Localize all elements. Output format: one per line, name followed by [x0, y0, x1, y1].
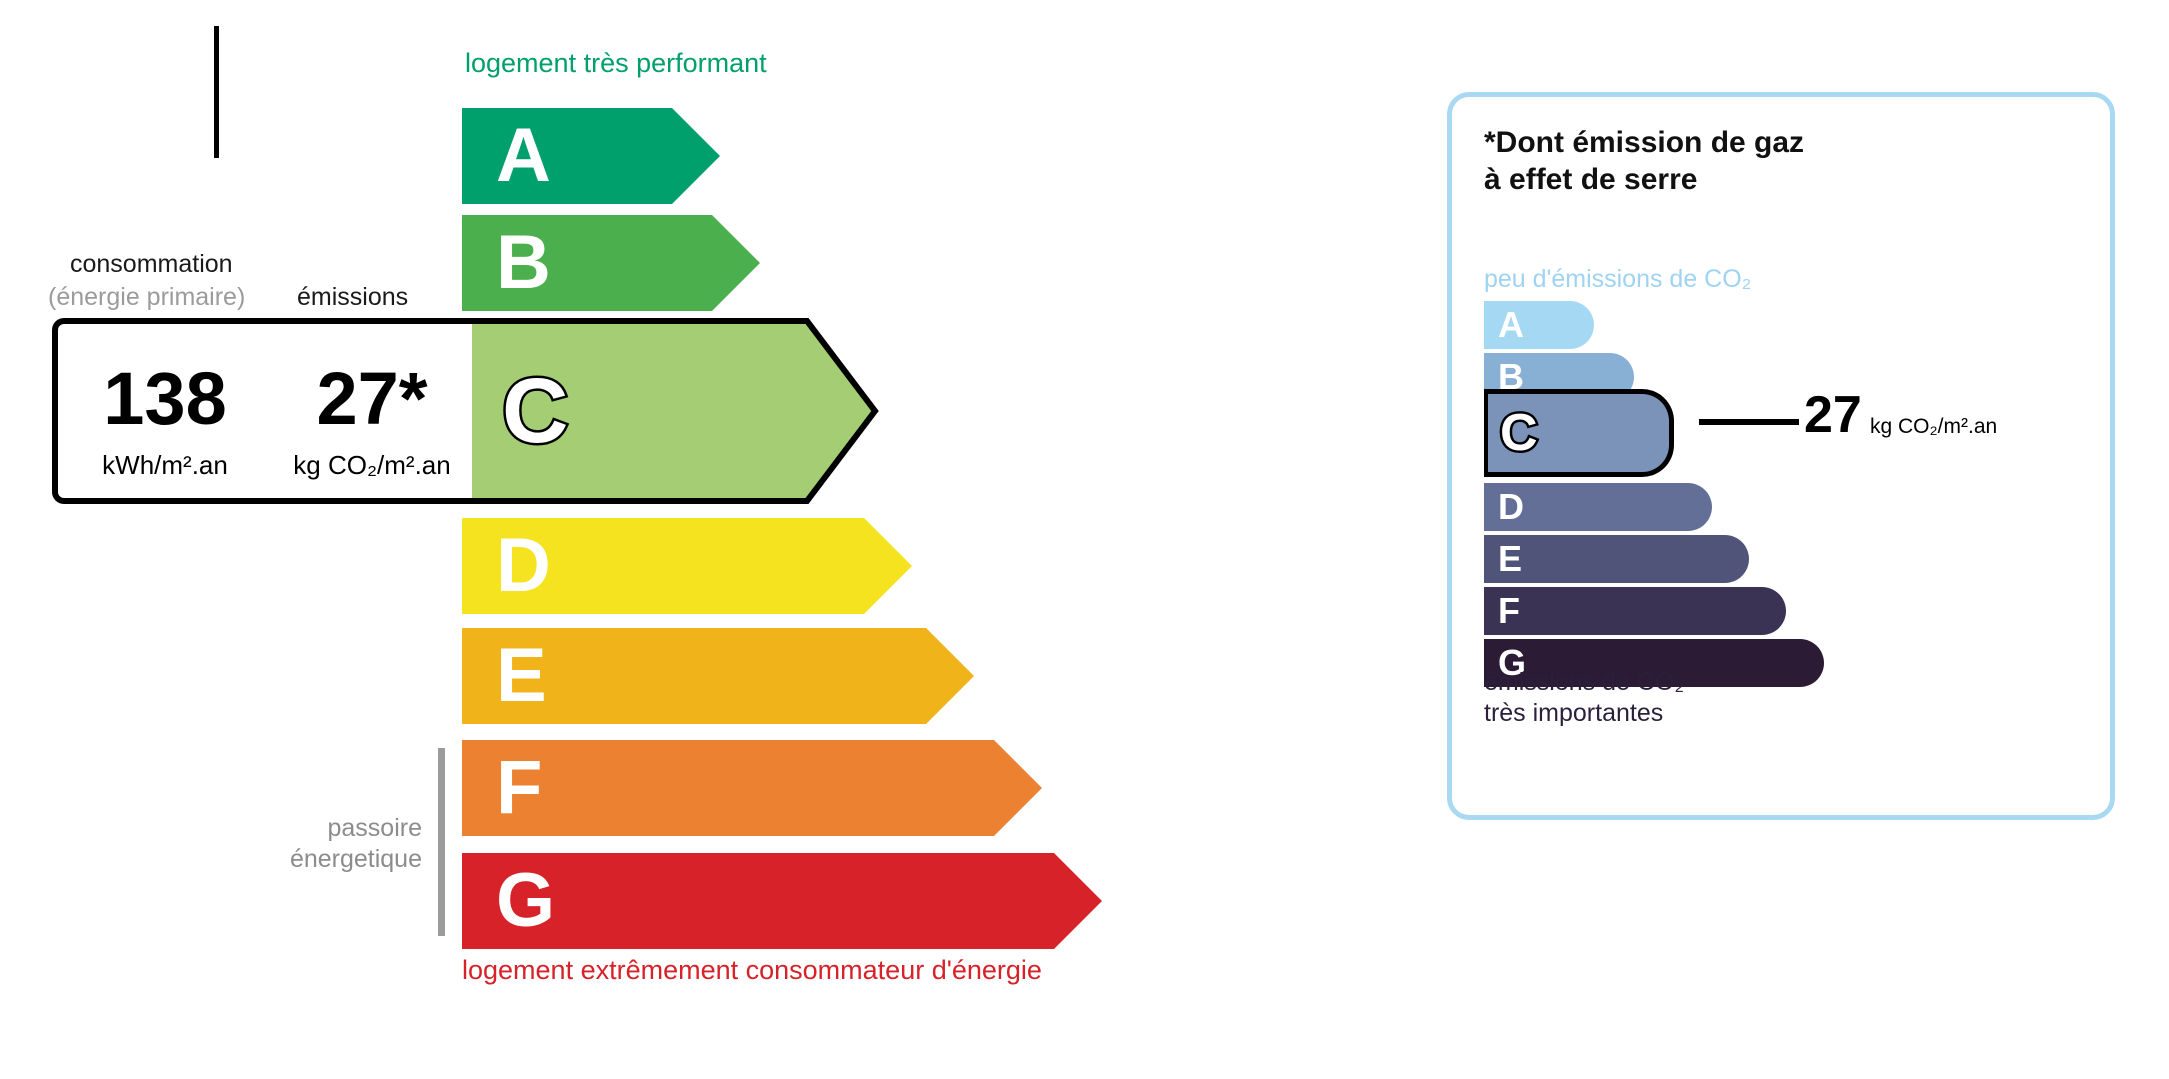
co2-row-c-current: C	[1484, 389, 1674, 477]
arrow-shape-icon	[462, 853, 1102, 949]
passoire-label-line1: passoire	[232, 813, 422, 844]
consumption-cell: 138 kWh/m².an	[58, 324, 272, 498]
co2-bar-f	[1484, 587, 1786, 635]
energy-letter-d: D	[496, 528, 551, 604]
co2-panel-title: *Dont émission de gaz à effet de serre	[1484, 125, 1804, 198]
co2-letter-d: D	[1498, 489, 1524, 525]
co2-panel: *Dont émission de gaz à effet de serre p…	[1447, 92, 2115, 820]
co2-value: 27	[1804, 389, 1862, 441]
header-primary-energy: (énergie primaire)	[48, 283, 245, 312]
energy-row-f: F	[462, 740, 1042, 836]
energy-arrow-c: C	[462, 318, 880, 504]
co2-row-f: F	[1484, 587, 1786, 635]
co2-connector-line	[1699, 419, 1799, 425]
energy-letter-f: F	[496, 750, 542, 826]
energy-arrow-g: G	[462, 853, 1102, 949]
co2-letter-e: E	[1498, 541, 1522, 577]
energy-row-d: D	[462, 518, 912, 614]
energy-letter-a: A	[496, 118, 551, 194]
energy-row-c-current: C	[462, 318, 880, 504]
value-box: 138 kWh/m².an 27* kg CO₂/m².an	[52, 318, 472, 504]
consumption-unit: kWh/m².an	[58, 450, 272, 481]
energy-row-e: E	[462, 628, 974, 724]
co2-row-e: E	[1484, 535, 1749, 583]
emission-cell: 27* kg CO₂/m².an	[272, 324, 472, 498]
value-box-divider	[214, 26, 219, 158]
energy-arrow-f: F	[462, 740, 1042, 836]
co2-letter-a: A	[1498, 307, 1524, 343]
co2-letter-f: F	[1498, 593, 1520, 629]
energy-letter-c: C	[502, 365, 568, 457]
passoire-label-line2: énergetique	[232, 844, 422, 875]
energy-letter-b: B	[496, 225, 551, 301]
arrow-shape-icon	[462, 740, 1042, 836]
energy-row-a: A	[462, 108, 720, 204]
emission-value: 27*	[272, 362, 472, 436]
energy-row-g: G	[462, 853, 1102, 949]
top-performance-label: logement très performant	[465, 48, 767, 79]
energy-letter-g: G	[496, 863, 555, 939]
co2-bar-e	[1484, 535, 1749, 583]
emission-unit: kg CO₂/m².an	[272, 450, 472, 481]
co2-unit: kg CO₂/m².an	[1870, 415, 1997, 439]
energy-arrow-b: B	[462, 215, 760, 311]
dpe-energy-panel: logement très performant consommation (é…	[0, 0, 1330, 1079]
bottom-performance-label: logement extrêmement consommateur d'éner…	[462, 955, 1042, 986]
co2-row-a: A	[1484, 301, 1594, 349]
energy-arrow-e: E	[462, 628, 974, 724]
co2-top-caption: peu d'émissions de CO₂	[1484, 265, 1751, 294]
consumption-value: 138	[58, 362, 272, 436]
header-emissions: émissions	[297, 283, 408, 312]
co2-row-d: D	[1484, 483, 1712, 531]
co2-bottom-caption: émissions de CO₂ très importantes	[1484, 667, 1684, 728]
energy-arrow-a: A	[462, 108, 720, 204]
energy-arrow-d: D	[462, 518, 912, 614]
passoire-marker-bar	[438, 748, 445, 936]
passoire-label: passoire énergetique	[232, 813, 422, 874]
energy-letter-e: E	[496, 638, 547, 714]
header-consumption: consommation	[70, 250, 233, 279]
energy-row-b: B	[462, 215, 760, 311]
co2-letter-c: C	[1500, 407, 1538, 459]
